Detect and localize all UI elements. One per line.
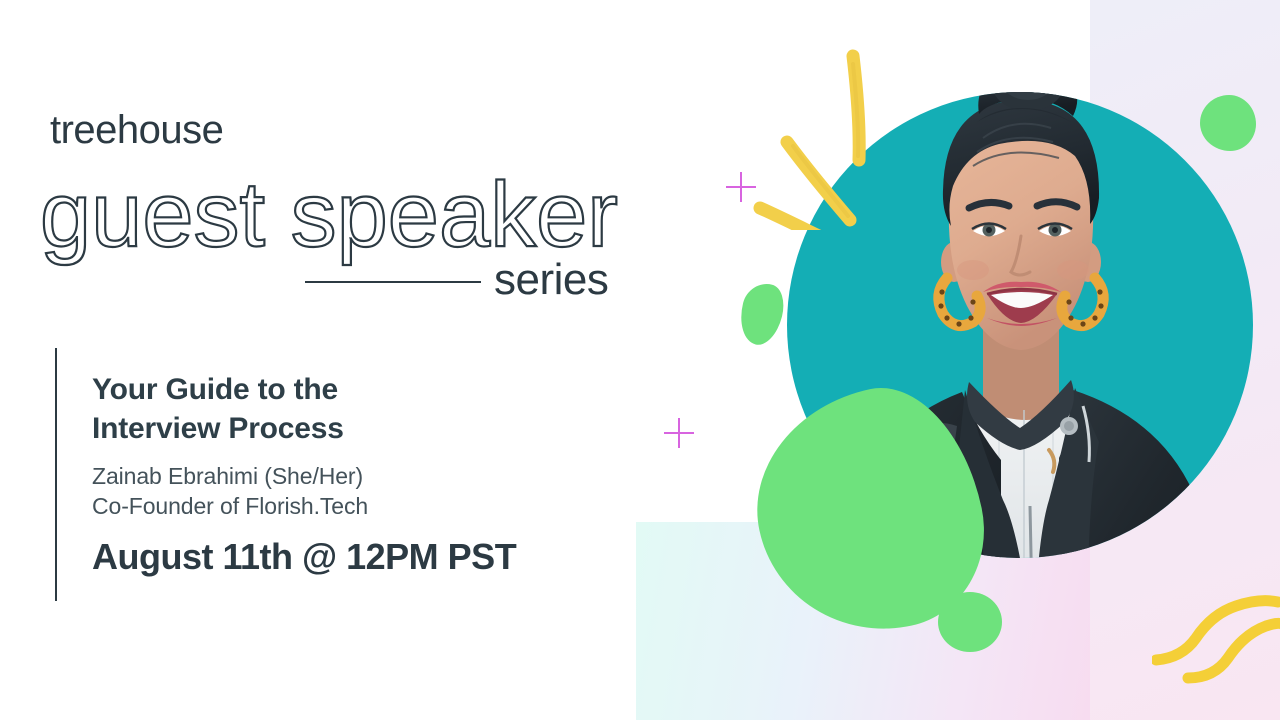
event-date-time: August 11th @ 12PM PST — [92, 536, 516, 578]
wavy-lines-icon — [1152, 570, 1280, 720]
speaker-role: Co-Founder of Florish.Tech — [92, 491, 612, 521]
speaker-name: Zainab Ebrahimi (She/Her) — [92, 461, 612, 491]
svg-text:guest speaker: guest speaker — [40, 164, 618, 266]
series-label: series — [494, 255, 608, 305]
treehouse-logo: treehouse — [50, 108, 223, 153]
talk-title-line2: Interview Process — [92, 409, 612, 448]
organic-blob-icon — [734, 279, 789, 349]
speaker-info: Zainab Ebrahimi (She/Her) Co-Founder of … — [92, 461, 612, 521]
talk-title-line1: Your Guide to the — [92, 370, 612, 409]
plus-mark-icon — [664, 418, 694, 448]
series-divider — [305, 281, 481, 283]
talk-title: Your Guide to the Interview Process — [92, 370, 612, 448]
vertical-accent-rule — [55, 348, 57, 601]
page-title-outline: guest speaker — [38, 160, 658, 270]
plus-mark-icon — [726, 172, 756, 202]
organic-blob-icon — [938, 592, 1002, 652]
presentation-slide: treehouse guest speaker series Your Guid… — [0, 0, 1280, 720]
